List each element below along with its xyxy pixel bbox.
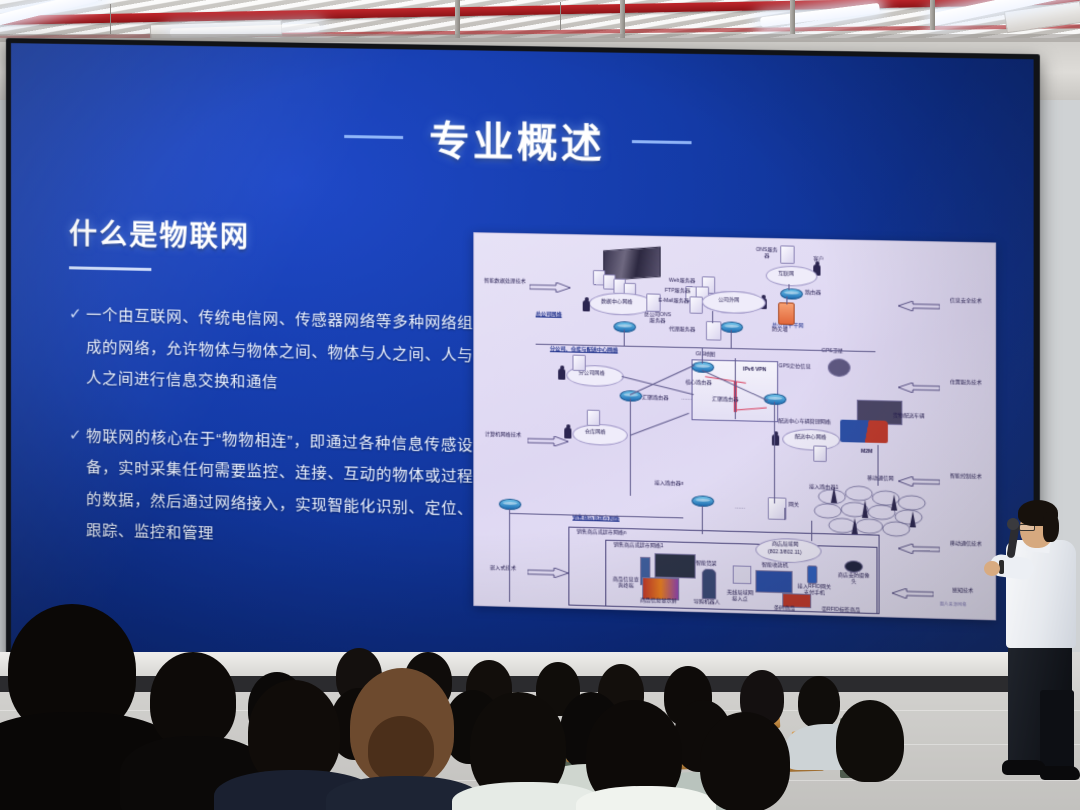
presenter-hand [984,561,1000,576]
satellite-icon [828,358,851,377]
link-line [624,329,625,345]
delivery-truck-icon [840,420,888,444]
link-line [788,284,789,290]
diagram-label-gis-map: GIS地图 [696,351,716,358]
diagram-label-tech-left-1: 计算机网络技术 [480,431,525,439]
diagram-label-query-terminal: 商品信息查询终端 [611,576,640,590]
arrow-right-icon [527,436,568,446]
diagram-label-email-server: E-Mail服务器 [659,298,690,305]
diagram-label-tech-left-2: 嵌入式技术 [480,565,525,573]
diagram-label-m2m: M2M [861,449,873,456]
ceiling-support [930,0,935,30]
presenter-shoe [1040,766,1080,780]
lecture-hall-scene: 专业概述 什么是物联网 ✓ 一个由互联网、传统电信网、传感器网络等多种网络组成的… [0,0,1080,810]
diagram-label-tech-right-2: 智能控制技术 [943,473,989,481]
ceiling-support [790,0,795,34]
diagram-label-smart-pos: 智能收款机 [762,562,788,569]
list-item-text: 一个由互联网、传统电信网、传感器网络等多种网络组成的网络，允许物体与物体之间、物… [86,300,473,404]
server-icon [780,245,794,264]
bullet-list: ✓ 一个由互联网、传统电信网、传感器网络等多种网络组成的网络，允许物体与物体之间… [69,299,473,557]
arrow-left-icon [892,588,934,598]
smart-shelf-photo [655,553,696,578]
diagram-label-ftp-server: FTP服务器 [665,288,691,295]
diagram-label-access-router-n: 接入路由器n [655,480,684,487]
diagram-label-gateway: 网关 [788,502,799,509]
link-line [784,508,785,520]
presenter-leg [1040,690,1074,778]
diagram-label-delivery-vehicle: 货物配送车辆 [892,413,925,420]
list-item: ✓ 一个由互联网、传统电信网、传感器网络等多种网络组成的网络，允许物体与物体之间… [69,299,473,403]
arrow-left-icon [898,543,940,553]
router-icon [692,495,715,507]
diagram-label-ons: ONS服务器 [753,247,780,260]
guide-robot-icon [702,569,716,600]
diagram-label-tech-left-0: 智能数据处理技术 [483,278,528,285]
server-icon [587,410,600,427]
led-screen-frame: 专业概述 什么是物联网 ✓ 一个由互联网、传统电信网、传感器网络等多种网络组成的… [6,38,1040,690]
diagram-watermark: 图片来源网络 [940,602,967,609]
diagram-label-proxy-server: 代理服务器 [669,326,695,333]
arrow-left-icon [898,301,940,311]
diagram-label-router: 路由器 [805,290,821,297]
diagram-label-barcode-product: 条码商品 [774,605,795,612]
firewall-icon [778,302,795,325]
list-item: ✓ 物联网的核心在于“物物相连”，即通过各种信息传感设备，实时采集任何需要监控、… [69,420,473,557]
diagram-label-display-screen: 商品信息显示屏 [640,597,677,604]
diagram-ellipsis: …… [681,396,691,403]
link-line [702,506,703,534]
diagram-label-datacenter-net: 数据中心网络 [601,299,632,306]
check-icon: ✓ [69,299,86,394]
diagram-label-ons-server: 总公司ONS服务器 [642,312,673,326]
ceiling-support [620,0,625,38]
slide-text-column: 什么是物联网 ✓ 一个由互联网、传统电信网、传感器网络等多种网络组成的网络，允许… [69,212,473,583]
slide-title-row: 专业概述 [11,101,1034,178]
drop-wire [110,4,111,34]
arrow-right-icon [529,282,570,292]
diagram-label-tech-right-3: 移动通信技术 [943,540,989,548]
server-icon [706,321,721,341]
diagram-label-web-server: Web服务器 [669,278,695,285]
diagram-ellipsis: …… [735,504,746,511]
link-line [702,347,703,363]
diagram-label-wifi-ap: 无线局域网接入点 [724,590,755,604]
person-icon [564,427,571,438]
presentation-slide: 专业概述 什么是物联网 ✓ 一个由互联网、传统电信网、传感器网络等多种网络组成的… [11,43,1034,684]
presenter-hair [1043,512,1059,542]
diagram-label-tech-right-0: 信息安全技术 [943,298,989,305]
link-line [731,330,732,348]
pos-machine-photo [755,570,792,593]
section-heading: 什么是物联网 [69,212,473,260]
diagram-label-store-net-1: 销售商店或超市网络1 [613,542,663,550]
diagram-label-ipv6-vpn: IPv6 VPN [743,367,766,374]
diagram-label-agg-router: 汇聚路由器 [642,395,668,402]
security-camera-icon [844,560,863,573]
server-icon [689,296,702,314]
server-icon [572,355,585,371]
diagram-label-guide-robot: 导购机器人 [694,599,720,606]
diagram-label-gps-location: GPS定位信息 [778,363,811,370]
check-icon: ✓ [69,420,86,547]
diagram-label-store-lan: 商店局域网 [772,541,798,548]
wifi-ap-icon [733,565,752,584]
link-line [811,521,812,541]
diagram-label-firewall: 防火墙 [772,327,788,334]
person-icon [558,368,565,379]
diagram-label-hq-network: 总公司网络 [536,311,562,318]
led-screen: 专业概述 什么是物联网 ✓ 一个由互联网、传统电信网、传感器网络等多种网络组成的… [11,43,1034,684]
link-line [712,311,713,323]
diagram-label-corp-extranet: 公司外网 [718,297,739,304]
iot-architecture-diagram: 智能数据处理技术 计算机网络技术 嵌入式技术 [473,232,996,620]
link-line [774,402,775,504]
diagram-label-smart-shelf: 智能货架 [696,560,717,567]
link-line [786,296,787,304]
diagram-label-dc-vehicle-net: 配送中心车辆管理网络 [778,418,831,426]
audience-head [150,652,236,748]
diagram-label-tech-right-4: 感知技术 [940,587,986,595]
arrow-left-icon [898,382,940,392]
diagram-label-core-router: 核心路由器 [685,379,711,386]
rfid-phone-icon [807,565,817,584]
diagram-label-branch-group: 分公司、仓库与配送中心网络 [550,346,618,354]
link-line [630,398,631,495]
diagram-label-internet: 互联网 [778,271,794,278]
audience-hair-bun [368,716,434,782]
diagram-label-warehouse-net: 仓库网络 [585,429,606,436]
server-icon [813,445,826,462]
link-line [509,509,510,602]
link-line [735,358,736,419]
diagram-label-store-lan-std: (802.3/802.11) [768,549,802,556]
link-line [878,445,879,486]
link-line [630,413,689,436]
audience-head [798,676,840,728]
diagram-label-tech-right-1: 位置服务技术 [943,379,989,387]
arrow-right-icon [527,567,568,577]
diagram-label-security-camera: 商店安防摄像头 [836,572,871,586]
router-icon [780,288,803,300]
diagram-label-store-net-n: 销售商店或超市网络n [577,529,627,537]
drop-wire [560,2,561,30]
person-icon [583,300,590,311]
diagram-label-mobile-net: 移动通信网 [867,475,893,482]
page-title: 专业概述 [429,108,605,170]
diagram-label-dc-net: 配送中心网络 [795,434,827,441]
diagram-label-rfid-product: 带RFID标签商品 [822,606,861,614]
microphone-head-icon [1007,518,1019,530]
audience-head [836,700,904,782]
title-dash-left [344,134,403,138]
heading-underline [69,266,151,271]
title-dash-right [631,140,691,144]
audience-head [700,712,790,810]
list-item-text: 物联网的核心在于“物物相连”，即通过各种信息传感设备，实时采集任何需要监控、连接… [86,420,473,557]
diagram-label-access-router-1: 接入路由器1 [809,484,838,491]
